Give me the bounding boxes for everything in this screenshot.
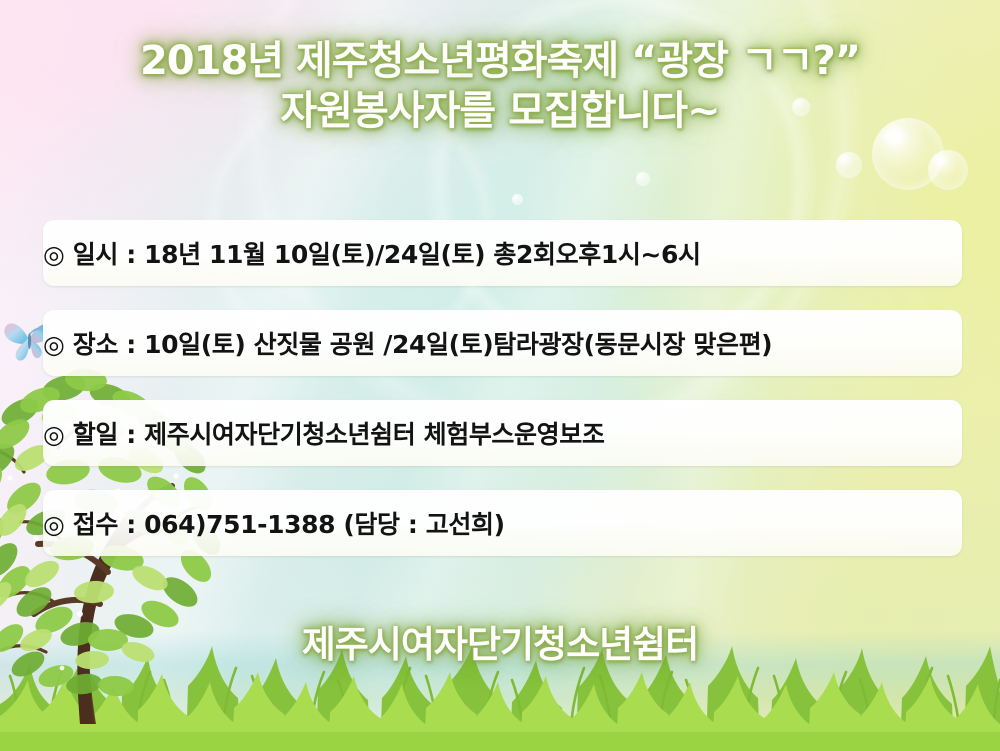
- bokeh-bubble-icon: [636, 172, 650, 186]
- info-row-contact-text: ◎ 접수 : 064)751-1388 (담당 : 고선희): [43, 505, 962, 541]
- info-row-task: ◎ ◎ 할일 : 제주시여자단기청소년쉼터 체험부스운영보조: [43, 400, 962, 466]
- info-row-location: ◎ ◎ 장소 : 10일(토) 산짓물 공원 /24일(토)탐라광장(동문시장 …: [43, 310, 962, 376]
- info-row-contact: ◎ ◎ 접수 : 064)751-1388 (담당 : 고선희): [43, 490, 962, 556]
- info-list: ◎ ◎ 일시 : 18년 11월 10일(토)/24일(토) 총2회오후1시~6…: [43, 220, 962, 556]
- info-row-date: ◎ ◎ 일시 : 18년 11월 10일(토)/24일(토) 총2회오후1시~6…: [43, 220, 962, 286]
- bokeh-bubble-icon: [928, 150, 968, 190]
- info-row-location-text: ◎ 장소 : 10일(토) 산짓물 공원 /24일(토)탐라광장(동문시장 맞은…: [43, 325, 962, 361]
- bokeh-bubble-icon: [836, 152, 862, 178]
- info-row-task-text: ◎ 할일 : 제주시여자단기청소년쉼터 체험부스운영보조: [43, 415, 962, 451]
- info-row-date-text: ◎ 일시 : 18년 11월 10일(토)/24일(토) 총2회오후1시~6시: [43, 235, 962, 271]
- poster-canvas: 2018년 제주청소년평화축제 “광장 ㄱㄱ?” 자원봉사자를 모집합니다~ ◎…: [0, 0, 1000, 751]
- bokeh-bubble-icon: [792, 98, 810, 116]
- bokeh-bubble-icon: [512, 194, 523, 205]
